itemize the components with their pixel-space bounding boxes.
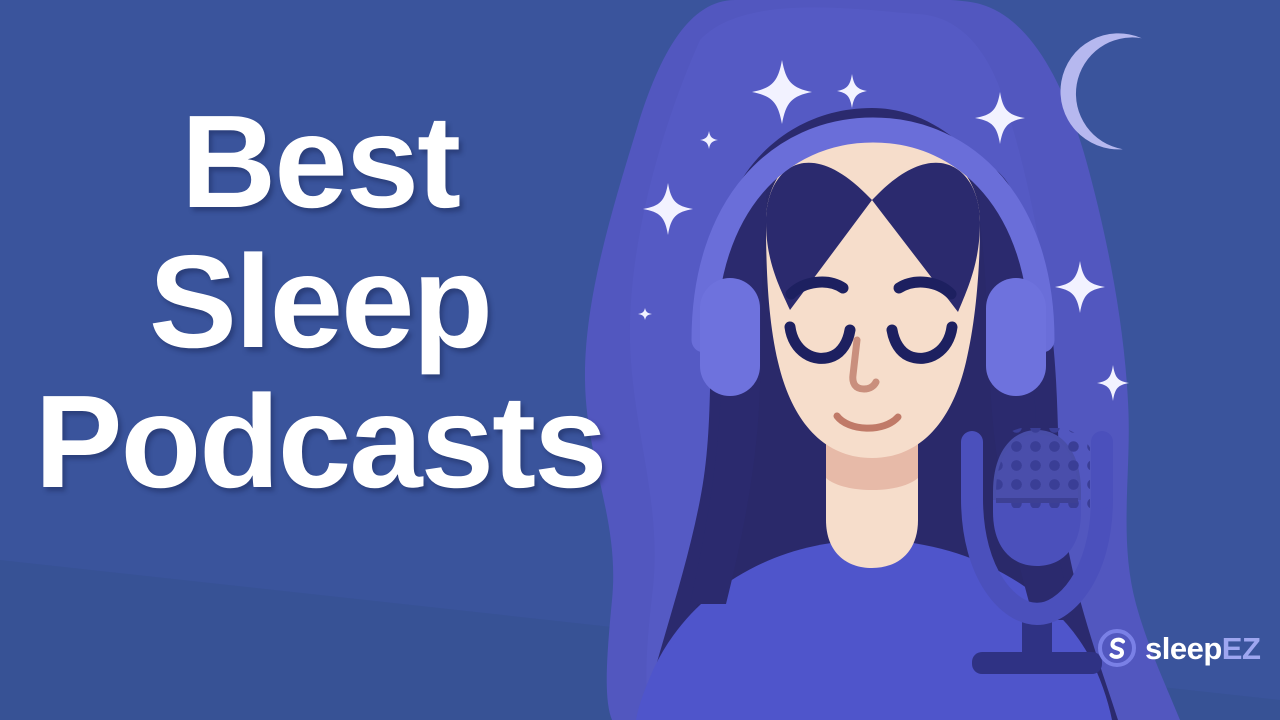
logo-word-primary: sleep xyxy=(1145,631,1222,666)
mic-divider xyxy=(996,498,1078,503)
sleepez-logo[interactable]: sleepEZ xyxy=(1098,627,1260,669)
illustration-artwork xyxy=(0,0,1280,720)
sleepez-wordmark: sleepEZ xyxy=(1145,633,1260,664)
poster-canvas: Best Sleep Podcasts sleepEZ xyxy=(0,0,1280,720)
sleepez-s-monogram-icon xyxy=(1098,629,1136,667)
headphone-earcup-right xyxy=(986,278,1046,396)
logo-word-accent: EZ xyxy=(1222,631,1261,666)
headphone-earcup-left xyxy=(700,278,760,396)
